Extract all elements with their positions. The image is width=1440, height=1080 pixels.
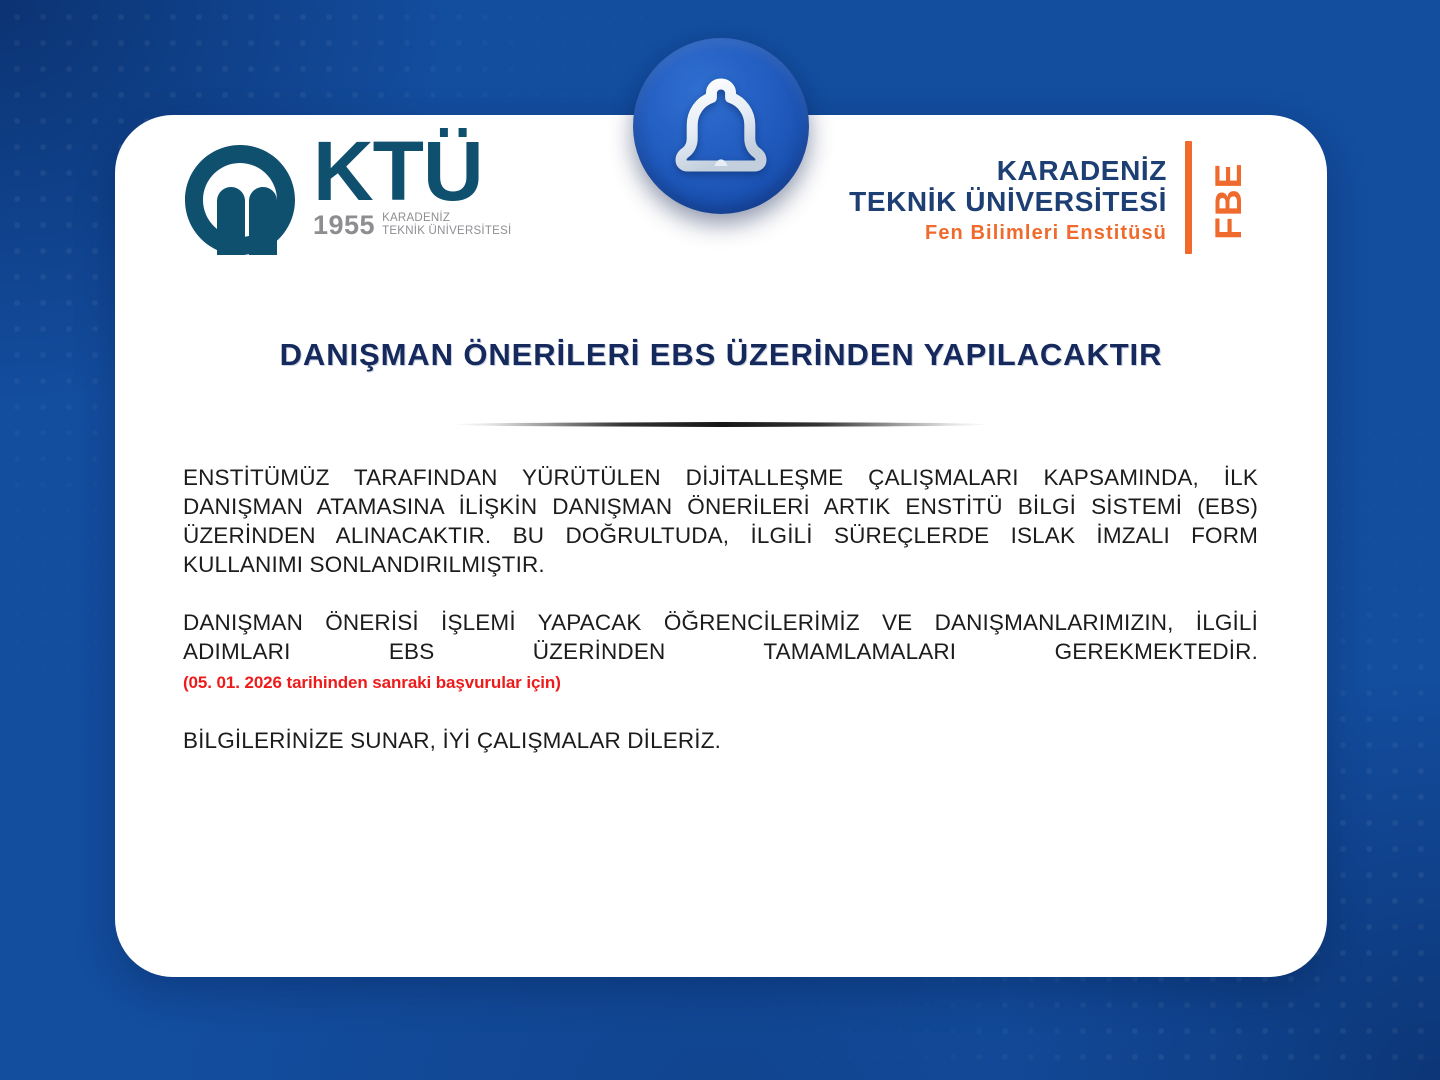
fbe-logo: KARADENİZ TEKNİK ÜNİVERSİTESİ Fen Biliml… <box>849 155 1247 248</box>
ktu-logo: KTÜ 1955 KARADENİZ TEKNİK ÜNİVERSİTESİ <box>177 133 511 268</box>
ktu-subtitle: KARADENİZ TEKNİK ÜNİVERSİTESİ <box>382 212 511 239</box>
fbe-line-3: Fen Bilimleri Enstitüsü <box>849 218 1167 248</box>
paragraph-3: BİLGİLERİNİZE SUNAR, İYİ ÇALIŞMALAR DİLE… <box>183 726 1258 755</box>
fbe-line-2: TEKNİK ÜNİVERSİTESİ <box>849 186 1167 217</box>
ktu-founding-year: 1955 <box>313 212 375 239</box>
page-title: DANIŞMAN ÖNERİLERİ EBS ÜZERİNDEN YAPILAC… <box>115 337 1327 373</box>
paragraph-2: DANIŞMAN ÖNERİSİ İŞLEMİ YAPACAK ÖĞRENCİL… <box>183 608 1258 697</box>
announcement-body: ENSTİTÜMÜZ TARAFINDAN YÜRÜTÜLEN DİJİTALL… <box>183 463 1258 755</box>
paragraph-1: ENSTİTÜMÜZ TARAFINDAN YÜRÜTÜLEN DİJİTALL… <box>183 463 1258 579</box>
bell-badge <box>633 38 809 214</box>
announcement-card: KTÜ 1955 KARADENİZ TEKNİK ÜNİVERSİTESİ K… <box>115 115 1327 977</box>
ktu-subtitle-line2: TEKNİK ÜNİVERSİTESİ <box>382 225 511 238</box>
fbe-names: KARADENİZ TEKNİK ÜNİVERSİTESİ Fen Biliml… <box>849 155 1167 248</box>
paragraph-2-note: (05. 01. 2026 tarihinden sanraki başvuru… <box>183 673 561 692</box>
bell-icon <box>675 78 767 174</box>
ktu-monogram-icon <box>177 139 303 268</box>
ktu-subtitle-line1: KARADENİZ <box>382 212 511 225</box>
ktu-subtitle-group: 1955 KARADENİZ TEKNİK ÜNİVERSİTESİ <box>313 212 511 239</box>
fbe-abbreviation: FBE <box>1210 155 1247 248</box>
title-divider <box>451 422 991 427</box>
fbe-divider-rule <box>1185 141 1192 254</box>
ktu-letters: KTÜ <box>313 133 511 210</box>
paragraph-2-text: DANIŞMAN ÖNERİSİ İŞLEMİ YAPACAK ÖĞRENCİL… <box>183 610 1258 664</box>
ktu-wordmark: KTÜ 1955 KARADENİZ TEKNİK ÜNİVERSİTESİ <box>313 133 511 239</box>
fbe-line-1: KARADENİZ <box>849 155 1167 186</box>
